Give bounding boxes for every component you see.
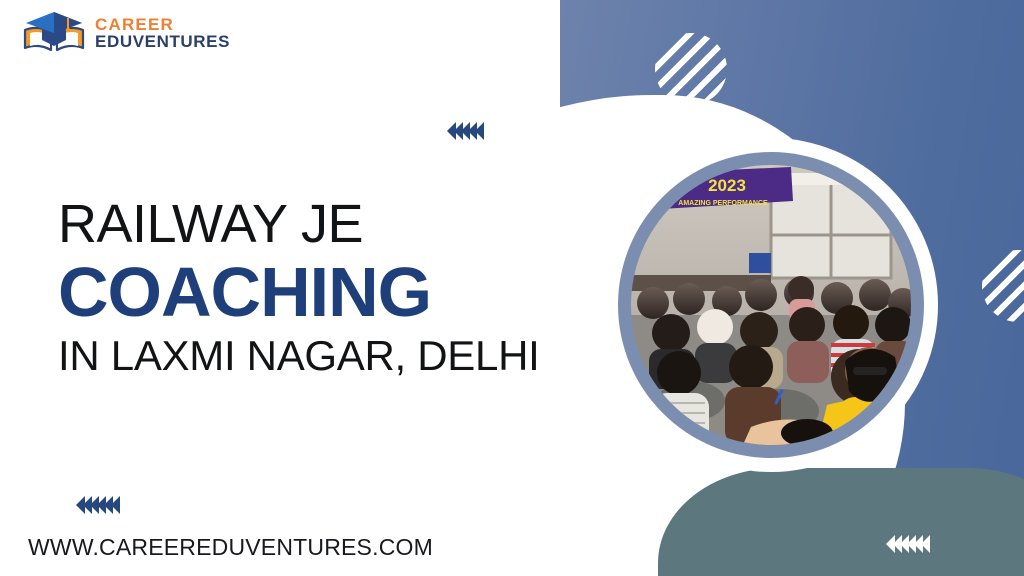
classroom-photo-illustration: 2023 AMAZING PERFORMANCE bbox=[631, 165, 911, 445]
svg-text:AMAZING PERFORMANCE: AMAZING PERFORMANCE bbox=[678, 200, 768, 207]
svg-text:2023: 2023 bbox=[708, 176, 746, 195]
headline-line1: RAILWAY JE bbox=[58, 196, 578, 253]
chevron-group-bottom-right bbox=[886, 535, 928, 553]
website-url[interactable]: WWW.CAREEREDUVENTURES.COM bbox=[28, 534, 433, 561]
teal-rounded-shape bbox=[658, 468, 1024, 576]
classroom-photo: 2023 AMAZING PERFORMANCE bbox=[631, 165, 911, 445]
chevron-group-footer bbox=[76, 496, 118, 514]
headline-line2-accent: COACHING bbox=[58, 255, 578, 329]
poster-canvas: 2023 AMAZING PERFORMANCE bbox=[0, 0, 1024, 576]
brand-logo[interactable]: CAREER EDUVENTURES bbox=[22, 10, 230, 56]
brand-wordmark: CAREER EDUVENTURES bbox=[95, 16, 230, 51]
striped-circle-icon bbox=[655, 33, 727, 105]
chevron-left-icon bbox=[475, 122, 484, 140]
stripe-pattern bbox=[655, 33, 727, 105]
stripe-pattern bbox=[982, 250, 1024, 322]
chevron-left-icon bbox=[111, 496, 120, 514]
brand-name-line2: EDUVENTURES bbox=[95, 33, 230, 50]
graduation-cap-book-icon bbox=[22, 10, 86, 56]
headline-block: RAILWAY JE COACHING IN LAXMI NAGAR, DELH… bbox=[58, 196, 578, 380]
chevron-group-top bbox=[447, 122, 482, 140]
photo-ring: 2023 AMAZING PERFORMANCE bbox=[618, 152, 924, 458]
headline-line3: IN LAXMI NAGAR, DELHI bbox=[58, 333, 578, 379]
chevron-left-icon bbox=[921, 535, 930, 553]
striped-circle-icon bbox=[982, 250, 1024, 322]
brand-name-line1: CAREER bbox=[95, 16, 230, 33]
